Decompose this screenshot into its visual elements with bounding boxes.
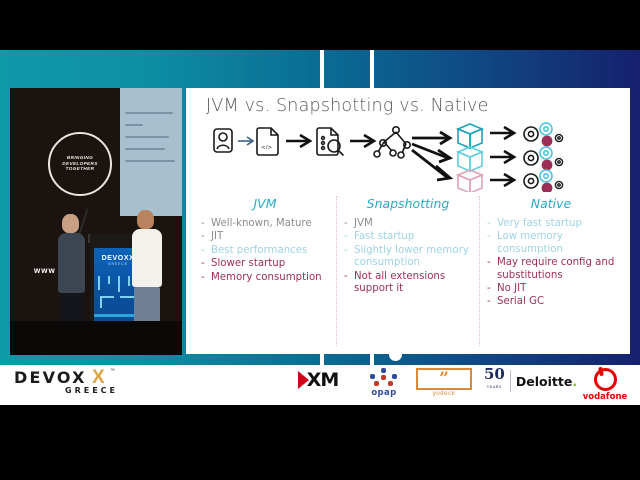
arrow-icon (412, 132, 450, 180)
sponsor-label: vodafone (576, 392, 634, 402)
badge-line-1: BRINGING (67, 156, 93, 161)
list-item: JIT (200, 231, 330, 243)
list-item: Fast startup (343, 231, 473, 243)
graph-tree-icon (374, 127, 410, 158)
list-item: Very fast startup (486, 218, 616, 230)
list-item: JVM (343, 218, 473, 230)
sponsor-label: XM (307, 369, 339, 391)
list-item: Slower startup (200, 258, 330, 270)
column-native: Native Very fast startup Low memory cons… (479, 196, 622, 346)
user-profile-icon (214, 129, 232, 152)
gears-icon (524, 170, 563, 192)
cube-pink-icon (458, 170, 482, 192)
list-item: May require config and substitutions (486, 257, 616, 282)
projection-screen (120, 88, 182, 216)
arrow-icon (286, 135, 310, 147)
list-item: Not all extensions support it (343, 271, 473, 296)
stage-floor (10, 321, 182, 355)
column-list-snapshotting: JVM Fast startup Slightly lower memory c… (343, 218, 473, 295)
slide-title: JVM vs. Snapshotting vs. Native (206, 96, 489, 116)
sponsor-opap: opap (362, 368, 406, 398)
column-list-native: Very fast startup Low memory consumption… (486, 218, 616, 309)
trademark-icon: ™ (110, 368, 115, 374)
video-content-area[interactable]: BRINGING DEVELOPERS TOGETHER www DEVOXX … (0, 50, 640, 405)
bringing-developers-together-badge: BRINGING DEVELOPERS TOGETHER (48, 132, 112, 196)
svg-text:</>: </> (261, 145, 272, 151)
video-player-frame: BRINGING DEVELOPERS TOGETHER www DEVOXX … (0, 0, 640, 480)
list-item: Well-known, Mature (200, 218, 330, 230)
comparison-columns: JVM Well-known, Mature JIT Best performa… (194, 196, 622, 346)
sponsor-xm: XM (290, 368, 346, 392)
devoxx-wordmark: DEVOX (14, 370, 134, 386)
list-item: Slightly lower memory consumption (343, 245, 473, 270)
presentation-slide: JVM vs. Snapshotting vs. Native (186, 88, 630, 354)
column-title-snapshotting: Snapshotting (343, 196, 473, 211)
column-snapshotting: Snapshotting JVM Fast startup Slightly l… (336, 196, 479, 346)
stage-url-text: www (34, 266, 56, 275)
sponsor-yodeck: ” yodeck (416, 368, 472, 397)
sponsor-vodafone: vodafone (576, 368, 634, 402)
arrow-icon (490, 127, 514, 186)
anniversary-mark: 50 YEARS (484, 368, 505, 394)
opap-star-icon (362, 368, 406, 388)
divider (510, 370, 511, 392)
column-jvm: JVM Well-known, Mature JIT Best performa… (194, 196, 336, 346)
pipeline-diagram: </> (200, 122, 616, 192)
list-item: Best performances (200, 245, 330, 257)
column-title-jvm: JVM (200, 196, 330, 211)
list-item: Serial GC (486, 296, 616, 308)
anniversary-sub: YEARS (484, 381, 505, 394)
list-item: No JIT (486, 283, 616, 295)
devoxx-region: GREECE (14, 386, 134, 395)
stage-camera-view: BRINGING DEVELOPERS TOGETHER www DEVOXX … (10, 88, 182, 355)
devoxx-logo: DEVOX X ™ GREECE (14, 370, 134, 400)
arrow-icon (350, 135, 374, 147)
file-search-icon (317, 128, 344, 156)
slide-progress-dot (389, 348, 402, 361)
list-item: Low memory consumption (486, 231, 616, 256)
gears-icon (524, 147, 563, 170)
badge-line-3: TOGETHER (66, 167, 95, 172)
gears-icon (524, 123, 563, 146)
deloitte-wordmark: Deloitte (516, 374, 572, 389)
quote-icon: ” (439, 373, 449, 385)
vodafone-speechmark-icon (594, 368, 617, 391)
column-list-jvm: Well-known, Mature JIT Best performances… (200, 218, 330, 284)
column-title-native: Native (486, 196, 616, 211)
cube-cyan-icon (458, 147, 482, 171)
sponsor-label: opap (362, 388, 406, 398)
devoxx-x-icon: X (92, 369, 105, 387)
cube-teal-icon (458, 124, 482, 148)
sponsor-label: Deloitte. (516, 374, 577, 389)
arrow-icon (238, 137, 253, 145)
sponsor-label: yodeck (416, 391, 472, 397)
list-item: Memory consumption (200, 272, 330, 284)
